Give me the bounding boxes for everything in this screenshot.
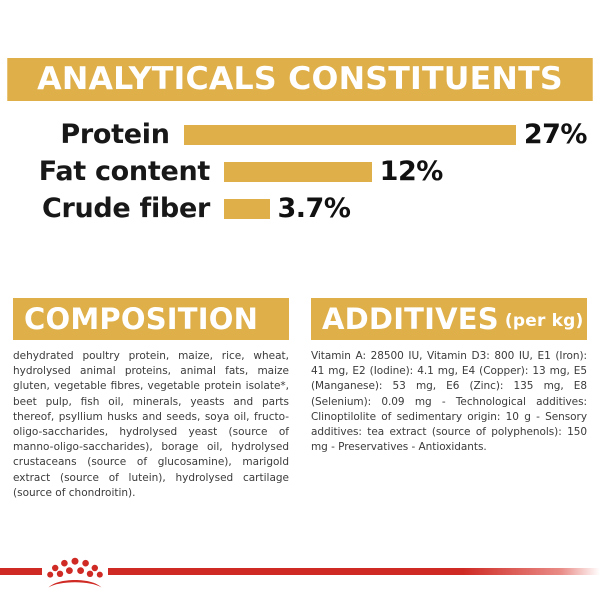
analytical-constituents-header: ANALYTICALS CONSTITUENTS: [7, 58, 592, 101]
composition-title: COMPOSITION: [24, 305, 258, 334]
bar-label-crude-fiber: Crude fiber: [13, 193, 210, 224]
analytical-constituents-panel: ANALYTICALS CONSTITUENTS: [13, 58, 587, 101]
chart-row-protein: Protein 27%: [13, 116, 587, 153]
bar-label-fat-content: Fat content: [13, 156, 210, 187]
footer-rule-right: [108, 568, 600, 575]
additives-header: ADDITIVES (per kg): [311, 298, 587, 340]
additives-title: ADDITIVES: [322, 305, 499, 334]
bar-fill-fat-content: [224, 162, 372, 182]
bar-track-crude-fiber: 3.7%: [210, 193, 587, 224]
additives-panel: ADDITIVES (per kg) Vitamin A: 28500 IU, …: [311, 298, 587, 501]
composition-header: COMPOSITION: [13, 298, 289, 340]
bar-value-fat-content: 12%: [372, 156, 443, 187]
bar-fill-protein: [184, 125, 516, 145]
bar-track-fat-content: 12%: [210, 156, 587, 187]
composition-text: dehydrated poultry protein, maize, rice,…: [13, 349, 289, 501]
additives-text: Vitamin A: 28500 IU, Vitamin D3: 800 IU,…: [311, 349, 587, 455]
bottom-panels: COMPOSITION dehydrated poultry protein, …: [13, 298, 587, 501]
bar-value-protein: 27%: [516, 119, 587, 150]
analytical-constituents-bar-chart: Protein 27% Fat content 12% Crude fiber …: [13, 116, 587, 227]
bar-track-protein: 27%: [170, 119, 587, 150]
composition-panel: COMPOSITION dehydrated poultry protein, …: [13, 298, 289, 501]
bar-fill-crude-fiber: [224, 199, 270, 219]
brand-footer: [0, 556, 600, 600]
bar-label-protein: Protein: [13, 119, 170, 150]
chart-row-crude-fiber: Crude fiber 3.7%: [13, 190, 587, 227]
analytical-constituents-title: ANALYTICALS CONSTITUENTS: [37, 64, 563, 95]
royal-canin-crown-logo: [44, 556, 106, 590]
additives-per-kg-note: (per kg): [499, 313, 584, 331]
bar-value-crude-fiber: 3.7%: [270, 193, 351, 224]
footer-rule-left: [0, 568, 42, 575]
chart-row-fat-content: Fat content 12%: [13, 153, 587, 190]
